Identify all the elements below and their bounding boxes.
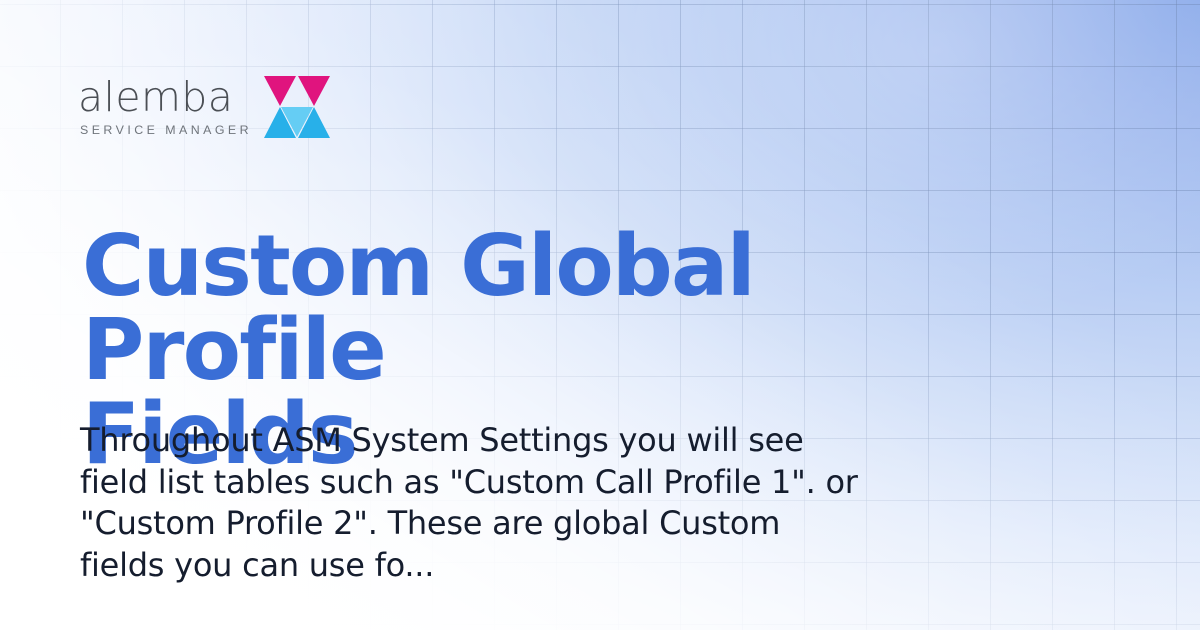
logo-text-block: alemba SERVICE MANAGER [78,74,252,138]
social-card-canvas: alemba SERVICE MANAGER Custom Global Pro… [0,0,1200,630]
card-content: alemba SERVICE MANAGER Custom Global Pro… [0,0,1200,630]
alemba-x-mark-icon [264,76,330,138]
page-description: Throughout ASM System Settings you will … [80,420,900,586]
logo-wordmark: alemba [78,77,233,117]
alemba-logo[interactable]: alemba SERVICE MANAGER [78,74,330,138]
logo-tagline: SERVICE MANAGER [80,123,252,138]
